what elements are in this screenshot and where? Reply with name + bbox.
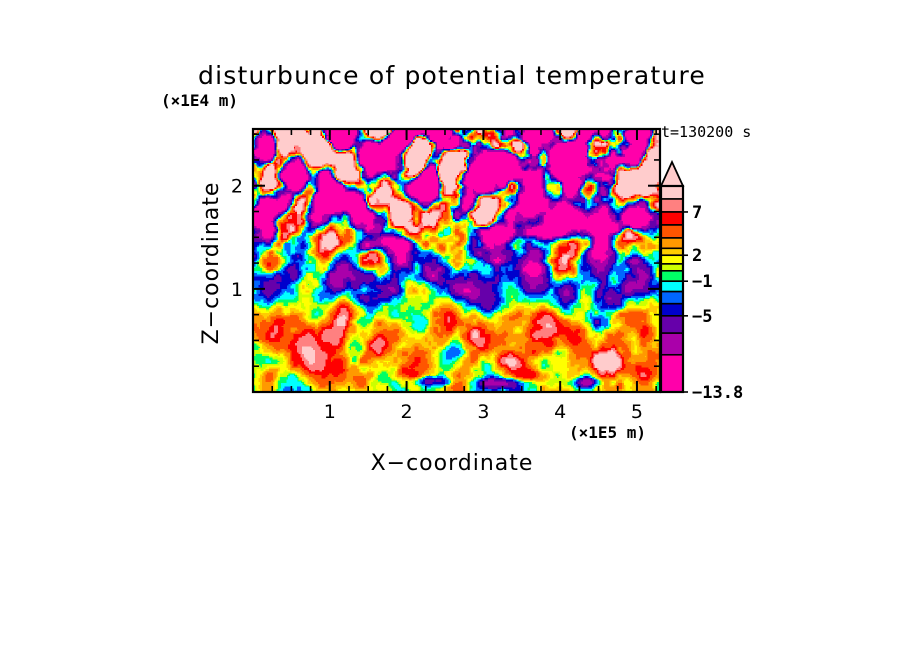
y-axis-title: Z−coordinate	[199, 182, 224, 345]
colorbar-band	[661, 212, 683, 225]
y-tick-label: 2	[231, 176, 243, 198]
y-tick-label: 1	[231, 279, 243, 301]
colorbar-band	[661, 264, 683, 271]
colorbar-band	[661, 281, 683, 291]
colorbar-band	[661, 255, 683, 264]
colorbar-band	[661, 225, 683, 238]
colorbar-band	[661, 199, 683, 212]
figure-title: disturbunce of potential temperature	[198, 61, 706, 90]
colorbar-tick-label: 7	[692, 203, 702, 223]
colorbar-band	[661, 355, 683, 392]
colorbar-tick-label: 2	[692, 246, 702, 266]
time-label: t=130200 s	[661, 123, 751, 141]
x-tick-label: 5	[631, 401, 643, 423]
colorbar-band	[661, 304, 683, 316]
colorbar-tick-label: −5	[692, 307, 712, 327]
x-tick-label: 4	[554, 401, 566, 423]
x-tick-label: 1	[324, 401, 336, 423]
colorbar-band	[661, 292, 683, 304]
x-axis-title: X−coordinate	[371, 451, 534, 476]
x-unit-label: (×1E5 m)	[569, 423, 646, 442]
colorbar-tick-label: −1	[692, 272, 712, 292]
colorbar-band	[661, 248, 683, 255]
colorbar-band	[661, 186, 683, 199]
colorbar-band	[661, 316, 683, 333]
contour-figure: disturbunce of potential temperature (×1…	[0, 0, 904, 654]
colorbar-band	[661, 271, 683, 281]
colorbar-band	[661, 333, 683, 355]
contour-plot-area	[253, 129, 661, 393]
y-unit-label: (×1E4 m)	[161, 91, 238, 110]
colorbar-tick-label: −13.8	[692, 383, 743, 403]
x-tick-label: 2	[401, 401, 413, 423]
colorbar-band	[661, 238, 683, 248]
x-tick-label: 3	[477, 401, 489, 423]
